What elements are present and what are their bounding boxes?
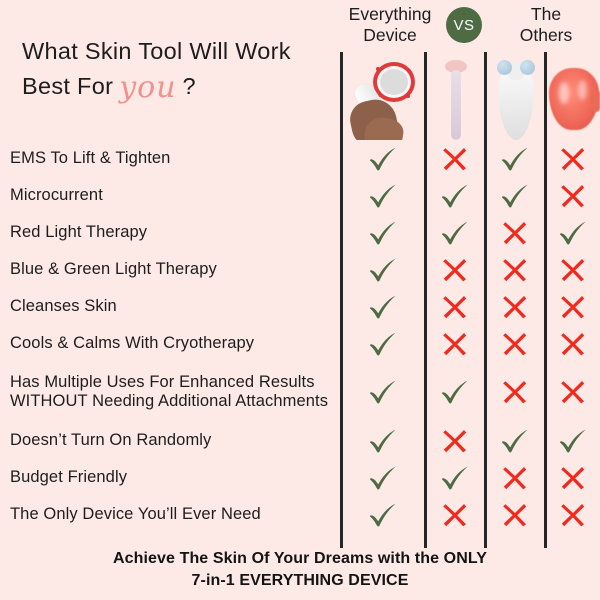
cross-icon xyxy=(426,325,484,362)
comparison-rows: EMS To Lift & TightenMicrocurrentRed Lig… xyxy=(0,140,600,533)
vs-badge: VS xyxy=(446,7,482,43)
cross-icon xyxy=(546,362,600,422)
table-row: Red Light Therapy xyxy=(0,214,600,251)
column-header-everything-line2: Device xyxy=(332,25,448,46)
cross-icon xyxy=(546,177,600,214)
row-label: Red Light Therapy xyxy=(10,214,335,251)
cross-icon xyxy=(546,288,600,325)
slim-wand-thumbnail xyxy=(427,52,485,140)
column-header-others-line1: The xyxy=(488,4,600,25)
title-question-mark: ? xyxy=(183,73,196,99)
check-icon xyxy=(342,496,424,533)
table-row: Blue & Green Light Therapy xyxy=(0,251,600,288)
footer-tagline: Achieve The Skin Of Your Dreams with the… xyxy=(0,548,600,592)
title-line-2: Best Foryou? xyxy=(22,68,332,103)
check-icon xyxy=(342,325,424,362)
row-label: Cleanses Skin xyxy=(10,288,335,325)
row-marks xyxy=(340,177,600,214)
row-label: Has Multiple Uses For Enhanced Results W… xyxy=(10,362,335,422)
device-led-dot xyxy=(376,67,380,71)
check-icon xyxy=(342,177,424,214)
title-line-1: What Skin Tool Will Work xyxy=(22,34,332,68)
check-icon xyxy=(426,177,484,214)
cross-icon xyxy=(426,288,484,325)
device-head-plate xyxy=(380,69,408,95)
cross-icon xyxy=(546,496,600,533)
row-label: EMS To Lift & Tighten xyxy=(10,140,335,177)
check-icon xyxy=(546,214,600,251)
column-header-others-line2: Others xyxy=(488,25,600,46)
cross-icon xyxy=(486,459,544,496)
table-row: The Only Device You’ll Ever Need xyxy=(0,496,600,533)
cross-icon xyxy=(486,496,544,533)
table-row: Budget Friendly xyxy=(0,459,600,496)
check-icon xyxy=(486,422,544,459)
everything-device-thumbnail xyxy=(342,52,425,140)
check-icon xyxy=(342,288,424,325)
product-thumbnails xyxy=(342,52,600,140)
cross-icon xyxy=(426,496,484,533)
cross-icon xyxy=(486,288,544,325)
column-header-everything-device: Everything Device xyxy=(332,4,448,46)
check-icon xyxy=(546,422,600,459)
row-marks xyxy=(340,496,600,533)
microcurrent-device-illustration xyxy=(492,58,540,140)
check-icon xyxy=(342,251,424,288)
table-row: EMS To Lift & Tighten xyxy=(0,140,600,177)
row-marks xyxy=(340,362,600,422)
comparison-infographic: What Skin Tool Will Work Best Foryou? Ev… xyxy=(0,0,600,600)
row-label: Cools & Calms With Cryotherapy xyxy=(10,325,335,362)
row-marks xyxy=(340,422,600,459)
cross-icon xyxy=(546,251,600,288)
check-icon xyxy=(426,362,484,422)
cross-icon xyxy=(426,140,484,177)
microcurrent-sphere-left xyxy=(497,60,512,75)
cross-icon xyxy=(546,459,600,496)
cross-icon xyxy=(546,325,600,362)
row-label: The Only Device You’ll Ever Need xyxy=(10,496,335,533)
slim-wand-illustration xyxy=(443,58,469,140)
mask-glow xyxy=(578,80,587,100)
check-icon xyxy=(342,362,424,422)
mask-strap xyxy=(591,90,600,112)
cross-icon xyxy=(486,251,544,288)
column-header-everything-line1: Everything xyxy=(332,4,448,25)
check-icon xyxy=(342,459,424,496)
check-icon xyxy=(342,140,424,177)
device-led-dot xyxy=(407,69,411,73)
led-face-mask-illustration xyxy=(549,60,599,140)
row-label: Blue & Green Light Therapy xyxy=(10,251,335,288)
wand-body xyxy=(451,70,461,140)
row-marks xyxy=(340,459,600,496)
everything-device-illustration xyxy=(345,52,423,140)
table-row: Has Multiple Uses For Enhanced Results W… xyxy=(0,362,600,422)
row-marks xyxy=(340,214,600,251)
microcurrent-sphere-right xyxy=(520,60,535,75)
page-title: What Skin Tool Will Work Best Foryou? xyxy=(22,34,332,103)
check-icon xyxy=(342,422,424,459)
row-marks xyxy=(340,251,600,288)
footer-line-1: Achieve The Skin Of Your Dreams with the… xyxy=(0,548,600,570)
title-script-you: you xyxy=(113,70,182,105)
table-row: Doesn’t Turn On Randomly xyxy=(0,422,600,459)
row-marks xyxy=(340,140,600,177)
cross-icon xyxy=(486,362,544,422)
check-icon xyxy=(426,214,484,251)
table-row: Cleanses Skin xyxy=(0,288,600,325)
cross-icon xyxy=(486,325,544,362)
mask-glow xyxy=(559,82,569,104)
row-marks xyxy=(340,288,600,325)
row-marks xyxy=(340,325,600,362)
device-led-dot xyxy=(406,94,410,98)
footer-line-2: 7-in-1 EVERYTHING DEVICE xyxy=(0,570,600,592)
row-label: Doesn’t Turn On Randomly xyxy=(10,422,335,459)
table-row: Cools & Calms With Cryotherapy xyxy=(0,325,600,362)
check-icon xyxy=(342,214,424,251)
cross-icon xyxy=(546,140,600,177)
check-icon xyxy=(426,459,484,496)
table-row: Microcurrent xyxy=(0,177,600,214)
led-face-mask-thumbnail xyxy=(547,52,600,140)
title-line-2-prefix: Best For xyxy=(22,73,113,99)
cross-icon xyxy=(426,422,484,459)
check-icon xyxy=(486,177,544,214)
column-headers: Everything Device VS The Others xyxy=(336,2,600,52)
cross-icon xyxy=(486,214,544,251)
row-label: Budget Friendly xyxy=(10,459,335,496)
microcurrent-device-thumbnail xyxy=(487,52,545,140)
column-header-the-others: The Others xyxy=(488,4,600,46)
check-icon xyxy=(486,140,544,177)
row-label: Microcurrent xyxy=(10,177,335,214)
cross-icon xyxy=(426,251,484,288)
